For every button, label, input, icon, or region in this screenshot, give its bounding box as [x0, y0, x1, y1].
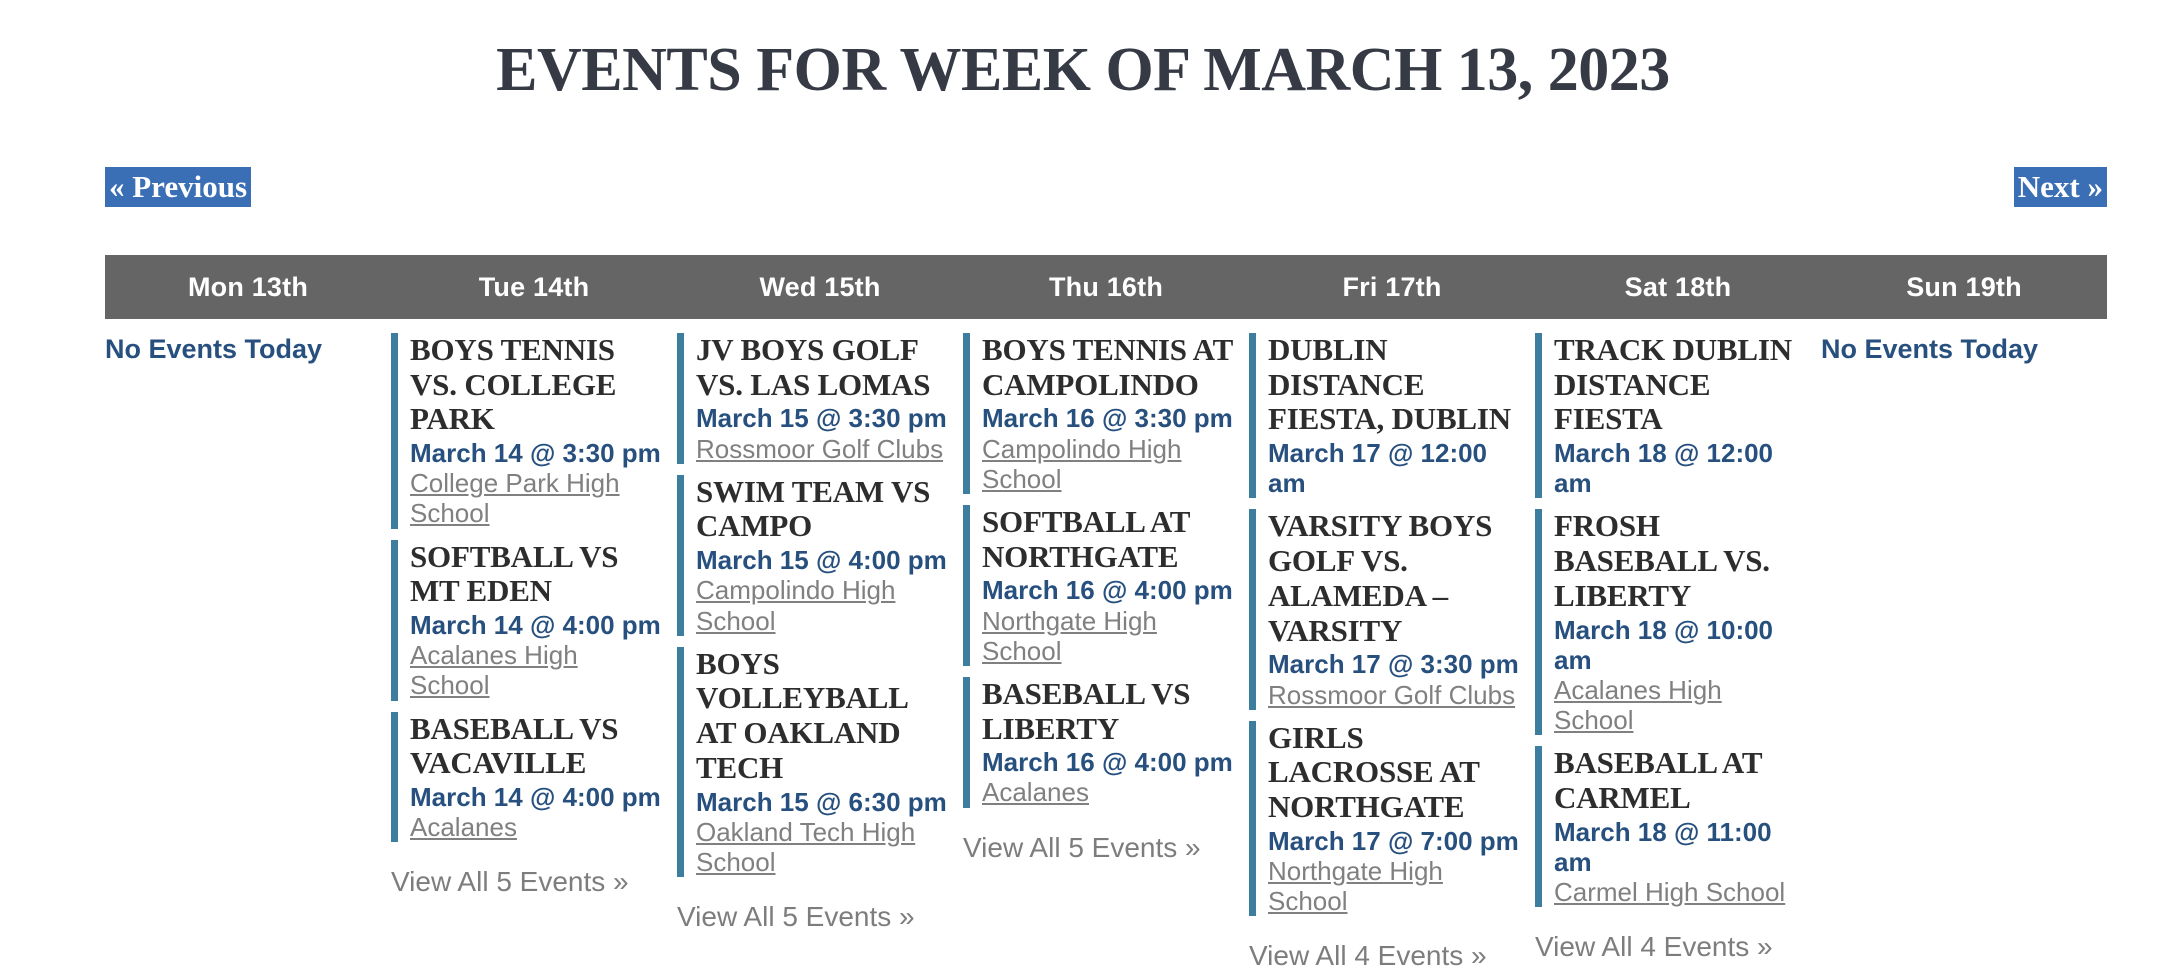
view-all-events-link[interactable]: View All 5 Events »: [677, 901, 915, 933]
event-item[interactable]: BOYS VOLLEYBALL AT OAKLAND TECHMarch 15 …: [677, 647, 949, 877]
event-title[interactable]: BASEBALL AT CARMEL: [1554, 746, 1807, 815]
no-events-message: No Events Today: [105, 333, 377, 365]
event-datetime: March 18 @ 11:00 am: [1554, 817, 1807, 877]
event-datetime: March 14 @ 4:00 pm: [410, 782, 663, 812]
event-datetime: March 16 @ 3:30 pm: [982, 403, 1235, 433]
day-header: Thu 16th: [963, 255, 1249, 319]
event-title[interactable]: BOYS TENNIS VS. COLLEGE PARK: [410, 333, 663, 437]
event-venue-link[interactable]: Acalanes: [410, 812, 517, 842]
event-venue-link[interactable]: Acalanes High School: [1554, 675, 1722, 735]
event-datetime: March 18 @ 10:00 am: [1554, 615, 1807, 675]
event-title[interactable]: DUBLIN DISTANCE FIESTA, DUBLIN: [1268, 333, 1521, 437]
event-venue-link[interactable]: Northgate High School: [982, 606, 1157, 666]
event-title[interactable]: BASEBALL VS LIBERTY: [982, 677, 1235, 746]
event-title[interactable]: GIRLS LACROSSE AT NORTHGATE: [1268, 721, 1521, 825]
event-title[interactable]: BOYS TENNIS AT CAMPOLINDO: [982, 333, 1235, 402]
next-week-link[interactable]: Next »: [2014, 167, 2107, 207]
event-datetime: March 15 @ 3:30 pm: [696, 403, 949, 433]
view-all-events-link[interactable]: View All 4 Events »: [1535, 931, 1773, 963]
event-item[interactable]: BASEBALL VS LIBERTYMarch 16 @ 4:00 pmAca…: [963, 677, 1235, 808]
event-datetime: March 15 @ 4:00 pm: [696, 545, 949, 575]
day-header: Sun 19th: [1821, 255, 2107, 319]
day-column: BOYS TENNIS AT CAMPOLINDOMarch 16 @ 3:30…: [963, 333, 1249, 864]
event-item[interactable]: VARSITY BOYS GOLF VS. ALAMEDA – VARSITYM…: [1249, 509, 1521, 709]
event-title[interactable]: FROSH BASEBALL VS. LIBERTY: [1554, 509, 1807, 613]
day-body-row: No Events TodayBOYS TENNIS VS. COLLEGE P…: [105, 319, 2107, 972]
event-title[interactable]: BASEBALL VS VACAVILLE: [410, 712, 663, 781]
event-datetime: March 14 @ 3:30 pm: [410, 438, 663, 468]
event-datetime: March 17 @ 12:00 am: [1268, 438, 1521, 498]
event-venue-link[interactable]: Northgate High School: [1268, 856, 1443, 916]
event-item[interactable]: BOYS TENNIS AT CAMPOLINDOMarch 16 @ 3:30…: [963, 333, 1235, 494]
event-item[interactable]: DUBLIN DISTANCE FIESTA, DUBLINMarch 17 @…: [1249, 333, 1521, 498]
day-header: Sat 18th: [1535, 255, 1821, 319]
view-all-events-link[interactable]: View All 5 Events »: [391, 866, 629, 898]
event-item[interactable]: FROSH BASEBALL VS. LIBERTYMarch 18 @ 10:…: [1535, 509, 1807, 735]
view-all-events-link[interactable]: View All 4 Events »: [1249, 940, 1487, 972]
day-header: Fri 17th: [1249, 255, 1535, 319]
event-datetime: March 17 @ 7:00 pm: [1268, 826, 1521, 856]
event-item[interactable]: GIRLS LACROSSE AT NORTHGATEMarch 17 @ 7:…: [1249, 721, 1521, 917]
day-header-row: Mon 13thTue 14thWed 15thThu 16thFri 17th…: [105, 255, 2107, 319]
event-datetime: March 16 @ 4:00 pm: [982, 747, 1235, 777]
event-datetime: March 14 @ 4:00 pm: [410, 610, 663, 640]
event-venue-link[interactable]: College Park High School: [410, 468, 620, 528]
event-title[interactable]: VARSITY BOYS GOLF VS. ALAMEDA – VARSITY: [1268, 509, 1521, 648]
day-column: JV BOYS GOLF VS. LAS LOMASMarch 15 @ 3:3…: [677, 333, 963, 933]
event-venue-link[interactable]: Rossmoor Golf Clubs: [1268, 680, 1515, 710]
event-item[interactable]: BASEBALL VS VACAVILLEMarch 14 @ 4:00 pmA…: [391, 712, 663, 843]
event-title[interactable]: SWIM TEAM VS CAMPO: [696, 475, 949, 544]
no-events-message: No Events Today: [1821, 333, 2093, 365]
event-item[interactable]: SWIM TEAM VS CAMPOMarch 15 @ 4:00 pmCamp…: [677, 475, 949, 636]
view-all-events-link[interactable]: View All 5 Events »: [963, 832, 1201, 864]
event-venue-link[interactable]: Carmel High School: [1554, 877, 1785, 907]
previous-week-link[interactable]: « Previous: [105, 167, 251, 207]
day-header: Wed 15th: [677, 255, 963, 319]
event-title[interactable]: SOFTBALL AT NORTHGATE: [982, 505, 1235, 574]
day-header: Tue 14th: [391, 255, 677, 319]
event-datetime: March 18 @ 12:00 am: [1554, 438, 1807, 498]
event-venue-link[interactable]: Rossmoor Golf Clubs: [696, 434, 943, 464]
event-title[interactable]: TRACK DUBLIN DISTANCE FIESTA: [1554, 333, 1807, 437]
event-venue-link[interactable]: Acalanes High School: [410, 640, 578, 700]
event-venue-link[interactable]: Oakland Tech High School: [696, 817, 915, 877]
day-column: BOYS TENNIS VS. COLLEGE PARKMarch 14 @ 3…: [391, 333, 677, 898]
event-item[interactable]: BOYS TENNIS VS. COLLEGE PARKMarch 14 @ 3…: [391, 333, 663, 529]
event-title[interactable]: SOFTBALL VS MT EDEN: [410, 540, 663, 609]
event-datetime: March 17 @ 3:30 pm: [1268, 649, 1521, 679]
day-column: No Events Today: [105, 333, 391, 365]
week-calendar: Mon 13thTue 14thWed 15thThu 16thFri 17th…: [105, 255, 2107, 972]
day-header: Mon 13th: [105, 255, 391, 319]
event-datetime: March 16 @ 4:00 pm: [982, 575, 1235, 605]
week-navigation: « Previous Next »: [105, 167, 2107, 207]
event-item[interactable]: JV BOYS GOLF VS. LAS LOMASMarch 15 @ 3:3…: [677, 333, 949, 464]
event-title[interactable]: BOYS VOLLEYBALL AT OAKLAND TECH: [696, 647, 949, 786]
event-title[interactable]: JV BOYS GOLF VS. LAS LOMAS: [696, 333, 949, 402]
page-title: EVENTS FOR WEEK OF MARCH 13, 2023: [0, 0, 2166, 103]
event-venue-link[interactable]: Campolindo High School: [696, 575, 895, 635]
event-venue-link[interactable]: Acalanes: [982, 777, 1089, 807]
event-item[interactable]: SOFTBALL VS MT EDENMarch 14 @ 4:00 pmAca…: [391, 540, 663, 701]
day-column: TRACK DUBLIN DISTANCE FIESTAMarch 18 @ 1…: [1535, 333, 1821, 963]
day-column: No Events Today: [1821, 333, 2107, 365]
event-item[interactable]: BASEBALL AT CARMELMarch 18 @ 11:00 amCar…: [1535, 746, 1807, 907]
event-item[interactable]: SOFTBALL AT NORTHGATEMarch 16 @ 4:00 pmN…: [963, 505, 1235, 666]
event-item[interactable]: TRACK DUBLIN DISTANCE FIESTAMarch 18 @ 1…: [1535, 333, 1807, 498]
event-datetime: March 15 @ 6:30 pm: [696, 787, 949, 817]
day-column: DUBLIN DISTANCE FIESTA, DUBLINMarch 17 @…: [1249, 333, 1535, 972]
event-venue-link[interactable]: Campolindo High School: [982, 434, 1181, 494]
